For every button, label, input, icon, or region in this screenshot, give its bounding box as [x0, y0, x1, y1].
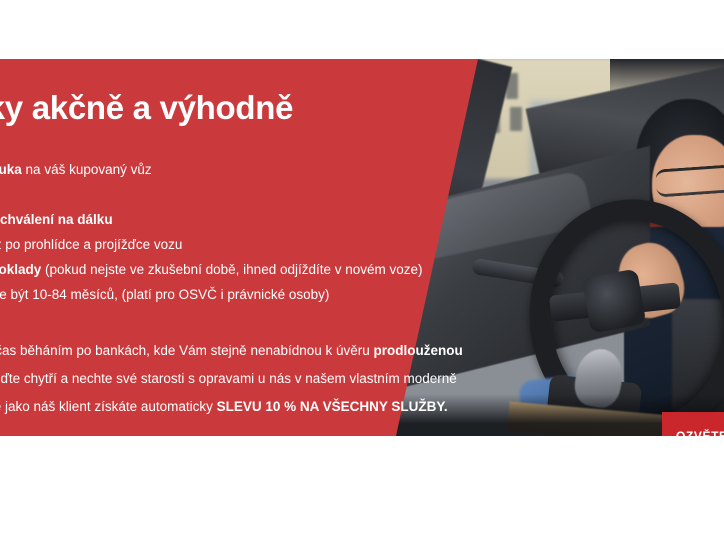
benefit-item-text: na váš kupovaný vůz [22, 162, 152, 177]
benefit-item: tek může být 10-84 měsíců, (platí pro OS… [0, 282, 592, 307]
banner-content: átky akčně a výhodně ená záruka na váš k… [0, 59, 724, 436]
paragraph-line-bold: prodlouženou [374, 343, 463, 358]
paragraph-line: ocenný čas běháním po bankách, kde Vám s… [0, 337, 608, 365]
benefit-item: e dva doklady (pokud nejste ve zkušební … [0, 257, 592, 282]
paragraph-line-text: visu, kde jako náš klient získáte automa… [0, 399, 217, 414]
benefit-item-strong: é předschválení na dálku [0, 212, 113, 227]
banner-headline: átky akčně a výhodně [0, 89, 293, 127]
page-canvas: átky akčně a výhodně ená záruka na váš k… [0, 0, 724, 560]
benefit-item-text: louvy až po prohlídce a projížďce vozu [0, 237, 182, 252]
banner-paragraph: ocenný čas běháním po bankách, kde Vám s… [0, 337, 608, 421]
benefit-list: ená záruka na váš kupovaný vůz od 0 % é … [0, 157, 592, 307]
benefit-item: louvy až po prohlídce a projížďce vozu [0, 232, 592, 257]
benefit-item: é předschválení na dálku [0, 207, 592, 232]
benefit-item-text: tek může být 10-84 měsíců, (platí pro OS… [0, 287, 329, 302]
benefit-item-strong: ená záruka [0, 162, 22, 177]
promo-banner: átky akčně a výhodně ená záruka na váš k… [0, 59, 724, 436]
benefit-item: od 0 % [0, 182, 592, 207]
paragraph-line: visu, kde jako náš klient získáte automa… [0, 393, 608, 421]
benefit-item-text: (pokud nejste ve zkušební době, ihned od… [41, 262, 422, 277]
paragraph-line: vozu! Buďte chytří a nechte své starosti… [0, 365, 608, 393]
paragraph-line-text: vozu! Buďte chytří a nechte své starosti… [0, 371, 457, 386]
paragraph-line-text: ocenný čas běháním po bankách, kde Vám s… [0, 343, 374, 358]
benefit-item-strong: e dva doklady [0, 262, 41, 277]
paragraph-line-bold: SLEVU 10 % NA VŠECHNY SLUŽBY. [217, 399, 448, 414]
benefit-item: ená záruka na váš kupovaný vůz [0, 157, 592, 182]
cta-button[interactable]: OZVĚTE [662, 412, 724, 436]
